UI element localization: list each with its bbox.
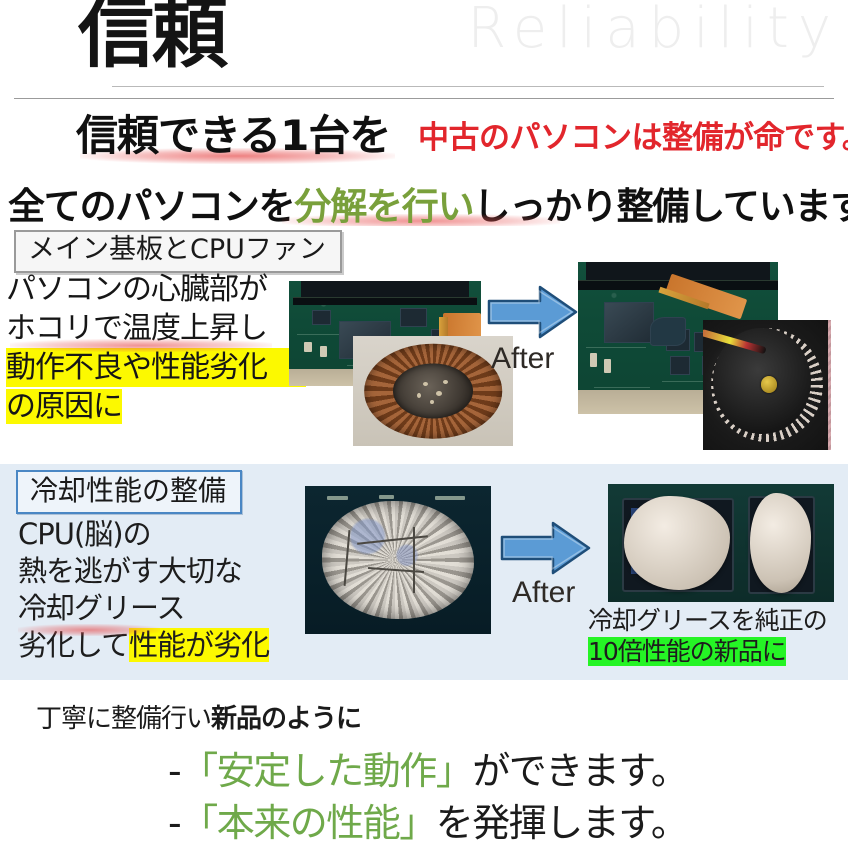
section1-tag: メイン基板とCPUファン: [14, 230, 342, 273]
arrow-group-2: After: [500, 520, 592, 616]
section2-right-note: 冷却グリースを純正の 10倍性能の新品に: [588, 606, 846, 667]
footer-line-2-dash: -: [168, 749, 180, 793]
after-label-2: After: [512, 576, 575, 610]
lead-highlight: 分解を行い: [294, 185, 473, 228]
arrow-right-icon: [500, 520, 592, 576]
footer-line-1: 丁寧に整備行い新品のように: [36, 698, 361, 735]
divider-bottom: [14, 98, 834, 99]
footer-line-2: -「安定した動作」ができます。: [168, 740, 687, 795]
header: Reliability 信頼: [0, 0, 848, 96]
section-motherboard-fan: メイン基板とCPUファン パソコンの心臓部が ホコリで温度上昇し 動作不良や性能…: [0, 226, 848, 464]
footer-conclusion: 丁寧に整備行い新品のように -「安定した動作」ができます。 -「本来の性能」を発…: [0, 680, 848, 848]
page-title: 信頼: [78, 0, 226, 72]
section2-line-2: 熱を逃がす大切な: [18, 553, 318, 590]
section2-underline-glow: [18, 624, 160, 636]
lead-statement: 全てのパソコンを分解を行いしっかり整備しています。: [8, 176, 848, 220]
fresh-thermal-paste-photo: [608, 484, 834, 602]
section1-line-3: 動作不良や性能劣化: [6, 348, 306, 387]
subheading: 信頼できる1台を 中古のパソコンは整備が命です。: [0, 104, 848, 162]
section1-line-4: の原因に: [6, 389, 122, 424]
cpu-fan-clean-photo: [703, 320, 831, 450]
dried-thermal-paste-photo: [305, 486, 491, 634]
section-thermal-paste: 冷却性能の整備 CPU(脳)の 熱を逃がす大切な 冷却グリース 劣化して性能が劣…: [0, 464, 848, 680]
section1-underline-glow: [10, 339, 272, 352]
section2-right-line-2: 10倍性能の新品に: [588, 637, 786, 666]
section2-tag: 冷却性能の整備: [16, 470, 242, 514]
watermark-reliability: Reliability: [467, 0, 840, 60]
footer-line-1-plain: 丁寧に整備行い: [36, 704, 211, 734]
section2-line-1: CPU(脳)の: [18, 516, 318, 553]
footer-line-3-dash: -: [168, 801, 180, 845]
section2-line-3: 冷却グリース: [18, 590, 318, 627]
subheading-red-note: 中古のパソコンは整備が命です。: [418, 112, 848, 157]
section2-right-line-1: 冷却グリースを純正の: [588, 606, 846, 637]
footer-line-2-rest: ができます。: [472, 749, 687, 793]
arrow-right-icon: [487, 284, 579, 340]
footer-line-1-bold: 新品のように: [211, 704, 361, 734]
section1-line-1: パソコンの心臓部が: [6, 270, 306, 309]
subheading-main: 信頼できる1台を: [76, 102, 390, 163]
infographic-page: Reliability 信頼 信頼できる1台を 中古のパソコンは整備が命です。 …: [0, 0, 848, 848]
footer-line-3: -「本来の性能」を発揮します。: [168, 792, 687, 847]
footer-line-3-green: 「本来の性能」: [180, 801, 436, 845]
after-label-1: After: [491, 342, 554, 376]
arrow-group-1: After: [487, 284, 579, 380]
section2-description: CPU(脳)の 熱を逃がす大切な 冷却グリース 劣化して性能が劣化: [18, 516, 318, 664]
divider-top: [112, 86, 824, 87]
footer-line-2-green: 「安定した動作」: [180, 749, 472, 793]
lead-part1: 全てのパソコンを: [8, 185, 294, 228]
footer-line-3-rest: を発揮します。: [436, 801, 688, 845]
